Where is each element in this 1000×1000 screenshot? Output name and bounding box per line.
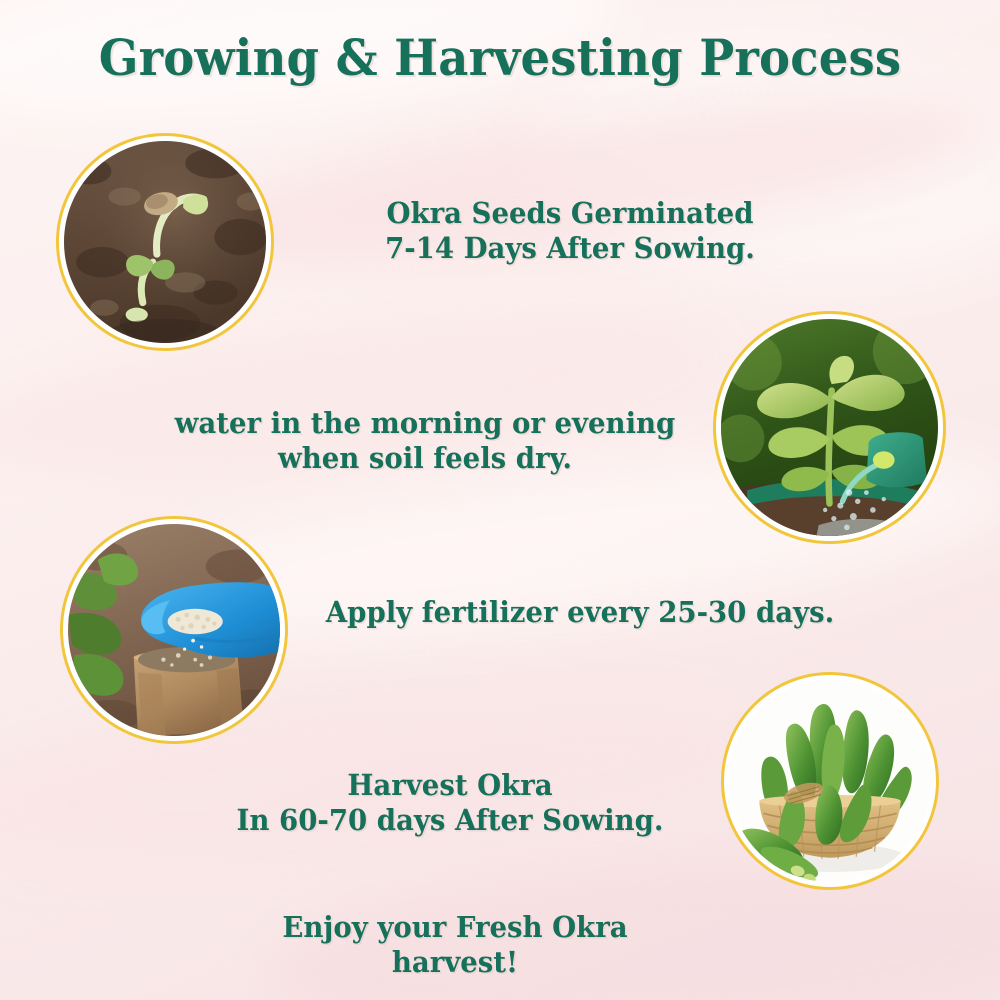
okra-seed-germination-photo <box>56 133 274 351</box>
fertilizer-illustration <box>68 524 280 736</box>
watering-illustration <box>721 319 938 536</box>
photo-clip <box>68 524 280 736</box>
germination-illustration <box>64 141 266 343</box>
page-title: Growing & Harvesting Process <box>35 28 965 87</box>
photo-clip <box>729 680 931 882</box>
okra-growing-process-poster: Growing & Harvesting Process <box>0 0 1000 1000</box>
caption-fertilizing: Apply fertilizer every 25-30 days. <box>267 595 894 630</box>
photo-clip <box>64 141 266 343</box>
caption-watering: water in the morning or evening when soi… <box>145 406 706 477</box>
caption-harvesting: Harvest Okra In 60-70 days After Sowing. <box>165 768 735 839</box>
caption-enjoy: Enjoy your Fresh Okra harvest! <box>194 910 717 981</box>
watering-okra-plant-photo <box>713 311 946 544</box>
applying-fertilizer-photo <box>60 516 288 744</box>
harvest-illustration <box>729 680 931 882</box>
caption-germination: Okra Seeds Germinated 7-14 Days After So… <box>314 196 827 267</box>
photo-clip <box>721 319 938 536</box>
harvested-okra-basket-photo <box>721 672 939 890</box>
